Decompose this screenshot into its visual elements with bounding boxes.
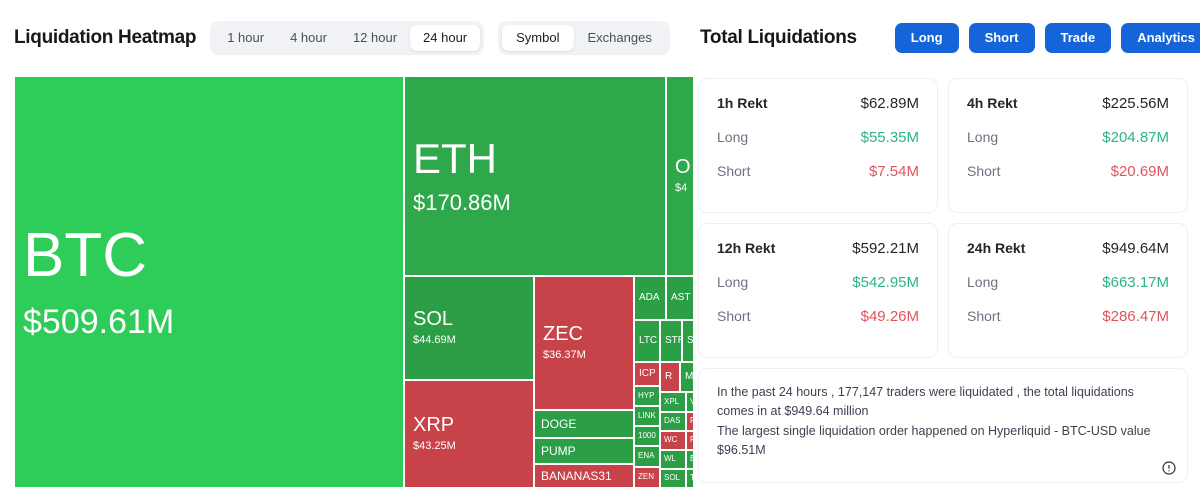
treemap-tile[interactable]: BTC$509.61M bbox=[14, 76, 404, 488]
stat-short-label: Short bbox=[967, 308, 1000, 324]
treemap-tile-symbol: HYP bbox=[638, 392, 659, 400]
treemap-tile[interactable]: B bbox=[686, 450, 694, 469]
treemap-tile-symbol: XRP bbox=[413, 415, 533, 436]
treemap-tile-symbol: BTC bbox=[23, 223, 403, 288]
treemap-tile[interactable]: XRP$43.25M bbox=[404, 380, 534, 488]
summary-line-2: The largest single liquidation order hap… bbox=[717, 422, 1169, 461]
treemap-tile-symbol: T bbox=[690, 474, 693, 482]
treemap-tile[interactable]: M bbox=[680, 362, 694, 392]
treemap-tile[interactable]: SOL bbox=[660, 469, 686, 488]
treemap-tile[interactable]: R bbox=[660, 362, 680, 392]
trade-button[interactable]: Trade bbox=[1045, 23, 1112, 53]
stat-row-short: Short $286.47M bbox=[967, 308, 1169, 325]
treemap-tile-symbol: DAS bbox=[664, 417, 685, 425]
info-icon[interactable] bbox=[1161, 460, 1177, 476]
liquidation-treemap[interactable]: BTC$509.61METH$170.86MO$4SOL$44.69MXRP$4… bbox=[14, 76, 694, 488]
treemap-tile[interactable]: STR bbox=[660, 320, 682, 362]
stat-row-short: Short $7.54M bbox=[717, 163, 919, 180]
grouping-option-exchanges[interactable]: Exchanges bbox=[574, 25, 666, 51]
treemap-tile-symbol: LINK bbox=[638, 412, 659, 420]
treemap-tile[interactable]: SU bbox=[682, 320, 694, 362]
grouping-option-symbol[interactable]: Symbol bbox=[502, 25, 573, 51]
totals-panel: Total Liquidations Long Short Trade Anal… bbox=[694, 0, 1200, 500]
treemap-tile[interactable]: 1000 bbox=[634, 426, 660, 446]
treemap-tile-value: $36.37M bbox=[543, 349, 633, 361]
stat-title: 1h Rekt bbox=[717, 95, 768, 111]
page-title: Liquidation Heatmap bbox=[14, 27, 196, 49]
treemap-tile-symbol: ZEN bbox=[638, 473, 659, 481]
treemap-tile-value: $43.25M bbox=[413, 440, 533, 452]
timeframe-option-1-hour[interactable]: 1 hour bbox=[214, 25, 277, 51]
stat-long-value: $663.17M bbox=[1102, 274, 1169, 291]
treemap-tile[interactable]: ENA bbox=[634, 446, 660, 467]
treemap-tile-symbol: ICP bbox=[639, 369, 659, 380]
treemap-tile-symbol: DOGE bbox=[541, 418, 633, 431]
treemap-tile[interactable]: WL bbox=[660, 450, 686, 469]
treemap-tile-symbol: ZEC bbox=[543, 324, 633, 345]
stat-long-value: $55.35M bbox=[861, 129, 919, 146]
treemap-tile[interactable]: O$4 bbox=[666, 76, 694, 276]
stat-long-label: Long bbox=[967, 129, 998, 145]
stat-long-label: Long bbox=[717, 129, 748, 145]
heatmap-header: Liquidation Heatmap 1 hour 4 hour 12 hou… bbox=[0, 0, 694, 76]
treemap-tile[interactable]: WC bbox=[660, 431, 686, 450]
totals-title: Total Liquidations bbox=[700, 27, 857, 49]
treemap-tile-symbol: PUMP bbox=[541, 445, 633, 458]
stat-row-total: 4h Rekt $225.56M bbox=[967, 95, 1169, 112]
treemap-tile[interactable]: ZEN bbox=[634, 467, 660, 488]
treemap-tile-symbol: STR bbox=[665, 336, 681, 347]
treemap-tile-symbol: SU bbox=[687, 336, 693, 347]
treemap-tile-symbol: 1000 bbox=[638, 432, 659, 440]
stat-card-4h: 4h Rekt $225.56M Long $204.87M Short $20… bbox=[948, 78, 1188, 213]
timeframe-option-4-hour[interactable]: 4 hour bbox=[277, 25, 340, 51]
stat-title: 4h Rekt bbox=[967, 95, 1018, 111]
treemap-tile[interactable]: V bbox=[686, 392, 694, 412]
summary-line-1: In the past 24 hours , 177,147 traders w… bbox=[717, 383, 1169, 422]
stat-long-label: Long bbox=[717, 274, 748, 290]
treemap-tile-symbol: WC bbox=[664, 436, 685, 444]
stat-row-total: 24h Rekt $949.64M bbox=[967, 240, 1169, 257]
treemap-tile-symbol: V bbox=[690, 398, 693, 406]
stat-short-label: Short bbox=[717, 163, 750, 179]
treemap-tile-value: $509.61M bbox=[23, 304, 403, 341]
stat-row-total: 12h Rekt $592.21M bbox=[717, 240, 919, 257]
treemap-tile[interactable]: PUMP bbox=[534, 438, 634, 464]
treemap-tile[interactable]: LTC bbox=[634, 320, 660, 362]
timeframe-option-24-hour[interactable]: 24 hour bbox=[410, 25, 480, 51]
treemap-tile-value: $4 bbox=[675, 182, 693, 194]
treemap-tile-symbol: AST bbox=[671, 293, 693, 304]
stat-row-total: 1h Rekt $62.89M bbox=[717, 95, 919, 112]
treemap-tile-symbol: XPL bbox=[664, 398, 685, 406]
stat-short-value: $49.26M bbox=[861, 308, 919, 325]
treemap-tile[interactable]: HYP bbox=[634, 386, 660, 406]
stat-short-value: $20.69M bbox=[1111, 163, 1169, 180]
stat-row-short: Short $49.26M bbox=[717, 308, 919, 325]
treemap-tile-symbol: ENA bbox=[638, 452, 659, 460]
stat-row-long: Long $663.17M bbox=[967, 274, 1169, 291]
short-button[interactable]: Short bbox=[969, 23, 1035, 53]
treemap-tile-symbol: B bbox=[690, 455, 693, 463]
stat-total-value: $949.64M bbox=[1102, 240, 1169, 257]
stat-total-value: $62.89M bbox=[861, 95, 919, 112]
timeframe-segmented-control[interactable]: 1 hour 4 hour 12 hour 24 hour bbox=[210, 21, 484, 55]
stat-row-short: Short $20.69M bbox=[967, 163, 1169, 180]
stat-long-label: Long bbox=[967, 274, 998, 290]
totals-header: Total Liquidations Long Short Trade Anal… bbox=[694, 0, 1200, 76]
stat-short-value: $286.47M bbox=[1102, 308, 1169, 325]
treemap-tile[interactable]: LINK bbox=[634, 406, 660, 426]
stat-row-long: Long $55.35M bbox=[717, 129, 919, 146]
treemap-tile-symbol: WL bbox=[664, 455, 685, 463]
stat-long-value: $542.95M bbox=[852, 274, 919, 291]
treemap-tile-symbol: BANANAS31 bbox=[541, 470, 633, 483]
treemap-tile[interactable]: P bbox=[686, 412, 694, 431]
stat-short-label: Short bbox=[717, 308, 750, 324]
treemap-tile-symbol: R bbox=[665, 372, 679, 383]
treemap-tile[interactable]: ICP bbox=[634, 362, 660, 386]
stat-card-12h: 12h Rekt $592.21M Long $542.95M Short $4… bbox=[698, 223, 938, 358]
treemap-tile-value: $170.86M bbox=[413, 191, 665, 215]
treemap-tile-symbol: ETH bbox=[413, 137, 665, 181]
treemap-tile[interactable]: SOL$44.69M bbox=[404, 276, 534, 380]
analytics-button[interactable]: Analytics bbox=[1121, 23, 1200, 53]
timeframe-option-12-hour[interactable]: 12 hour bbox=[340, 25, 410, 51]
long-button[interactable]: Long bbox=[895, 23, 959, 53]
liquidation-dashboard: Liquidation Heatmap 1 hour 4 hour 12 hou… bbox=[0, 0, 1200, 500]
treemap-tile[interactable]: XPL bbox=[660, 392, 686, 412]
treemap-tile-symbol: M bbox=[685, 372, 693, 383]
treemap-tile[interactable]: ZEC$36.37M bbox=[534, 276, 634, 410]
stat-long-value: $204.87M bbox=[1102, 129, 1169, 146]
treemap-tile[interactable]: DOGE bbox=[534, 410, 634, 438]
treemap-tile-symbol: SOL bbox=[413, 309, 533, 330]
treemap-tile[interactable]: DAS bbox=[660, 412, 686, 431]
treemap-tile-symbol: SOL bbox=[664, 474, 685, 482]
stat-total-value: $592.21M bbox=[852, 240, 919, 257]
grouping-segmented-control[interactable]: Symbol Exchanges bbox=[498, 21, 670, 55]
treemap-tile[interactable]: ETH$170.86M bbox=[404, 76, 666, 276]
stat-row-long: Long $542.95M bbox=[717, 274, 919, 291]
stat-total-value: $225.56M bbox=[1102, 95, 1169, 112]
treemap-tile[interactable]: P bbox=[686, 431, 694, 450]
heatmap-panel: Liquidation Heatmap 1 hour 4 hour 12 hou… bbox=[0, 0, 694, 500]
summary-card: In the past 24 hours , 177,147 traders w… bbox=[698, 368, 1188, 483]
stat-short-value: $7.54M bbox=[869, 163, 919, 180]
treemap-tile-value: $44.69M bbox=[413, 334, 533, 346]
stat-title: 24h Rekt bbox=[967, 240, 1025, 256]
stat-card-grid: 1h Rekt $62.89M Long $55.35M Short $7.54… bbox=[698, 78, 1188, 358]
stat-card-24h: 24h Rekt $949.64M Long $663.17M Short $2… bbox=[948, 223, 1188, 358]
treemap-tile-symbol: P bbox=[690, 436, 693, 444]
treemap-tile[interactable]: T bbox=[686, 469, 694, 488]
stat-card-1h: 1h Rekt $62.89M Long $55.35M Short $7.54… bbox=[698, 78, 938, 213]
treemap-tile[interactable]: AST bbox=[666, 276, 694, 320]
stat-row-long: Long $204.87M bbox=[967, 129, 1169, 146]
treemap-tile[interactable]: ADA bbox=[634, 276, 666, 320]
treemap-tile-symbol: P bbox=[690, 417, 693, 425]
stat-short-label: Short bbox=[967, 163, 1000, 179]
treemap-tile-symbol: LTC bbox=[639, 336, 659, 347]
stat-title: 12h Rekt bbox=[717, 240, 775, 256]
treemap-tile-symbol: O bbox=[675, 157, 693, 178]
treemap-tile-symbol: ADA bbox=[639, 293, 665, 304]
treemap-tile[interactable]: BANANAS31 bbox=[534, 464, 634, 488]
